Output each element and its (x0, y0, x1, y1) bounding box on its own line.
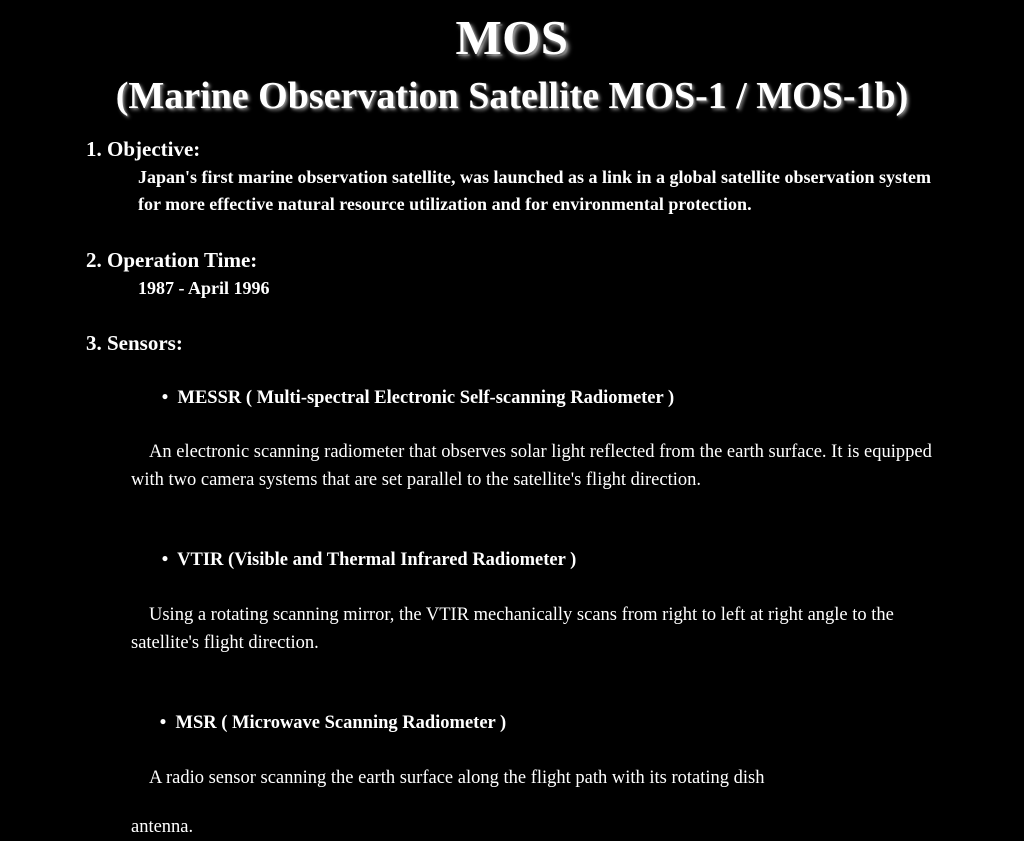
spacer (0, 219, 1024, 247)
spacer (0, 302, 1024, 330)
section-heading-sensors: 3. Sensors: (86, 330, 1024, 358)
section-body-operation-time: 1987 - April 1996 (138, 275, 956, 303)
slide-title: MOS (0, 12, 1024, 64)
bullet-icon: • (162, 388, 178, 408)
spacer (0, 657, 1024, 683)
slide-body: 1. Objective: Japan's first marine obser… (0, 136, 1024, 841)
sensor-description-vtir: Using a rotating scanning mirror, the VT… (131, 601, 964, 657)
sensor-heading-msr: • MSR ( Microwave Scanning Radiometer ) (132, 683, 1024, 763)
section-body-objective: Japan's first marine observation satelli… (138, 164, 956, 219)
sensor-heading-messr: • MESSR ( Multi-spectral Electronic Self… (134, 358, 1024, 438)
sensor-heading-vtir: • VTIR (Visible and Thermal Infrared Rad… (134, 520, 1024, 600)
slide-subtitle: (Marine Observation Satellite MOS-1 / MO… (0, 76, 1024, 118)
spacer (0, 494, 1024, 520)
sensor-name-messr: MESSR ( Multi-spectral Electronic Self-s… (177, 388, 674, 408)
slide-canvas: MOS (Marine Observation Satellite MOS-1 … (0, 0, 1024, 768)
section-heading-operation-time: 2. Operation Time: (86, 247, 1024, 275)
sensor-description-msr-tail: antenna. (131, 813, 1024, 841)
bullet-icon: • (160, 713, 176, 733)
section-heading-objective: 1. Objective: (86, 136, 1024, 164)
sensor-name-vtir: VTIR (Visible and Thermal Infrared Radio… (177, 550, 576, 570)
bullet-icon: • (162, 550, 177, 570)
sensor-name-msr: MSR ( Microwave Scanning Radiometer ) (175, 713, 506, 733)
sensor-description-messr: An electronic scanning radiometer that o… (131, 438, 964, 494)
